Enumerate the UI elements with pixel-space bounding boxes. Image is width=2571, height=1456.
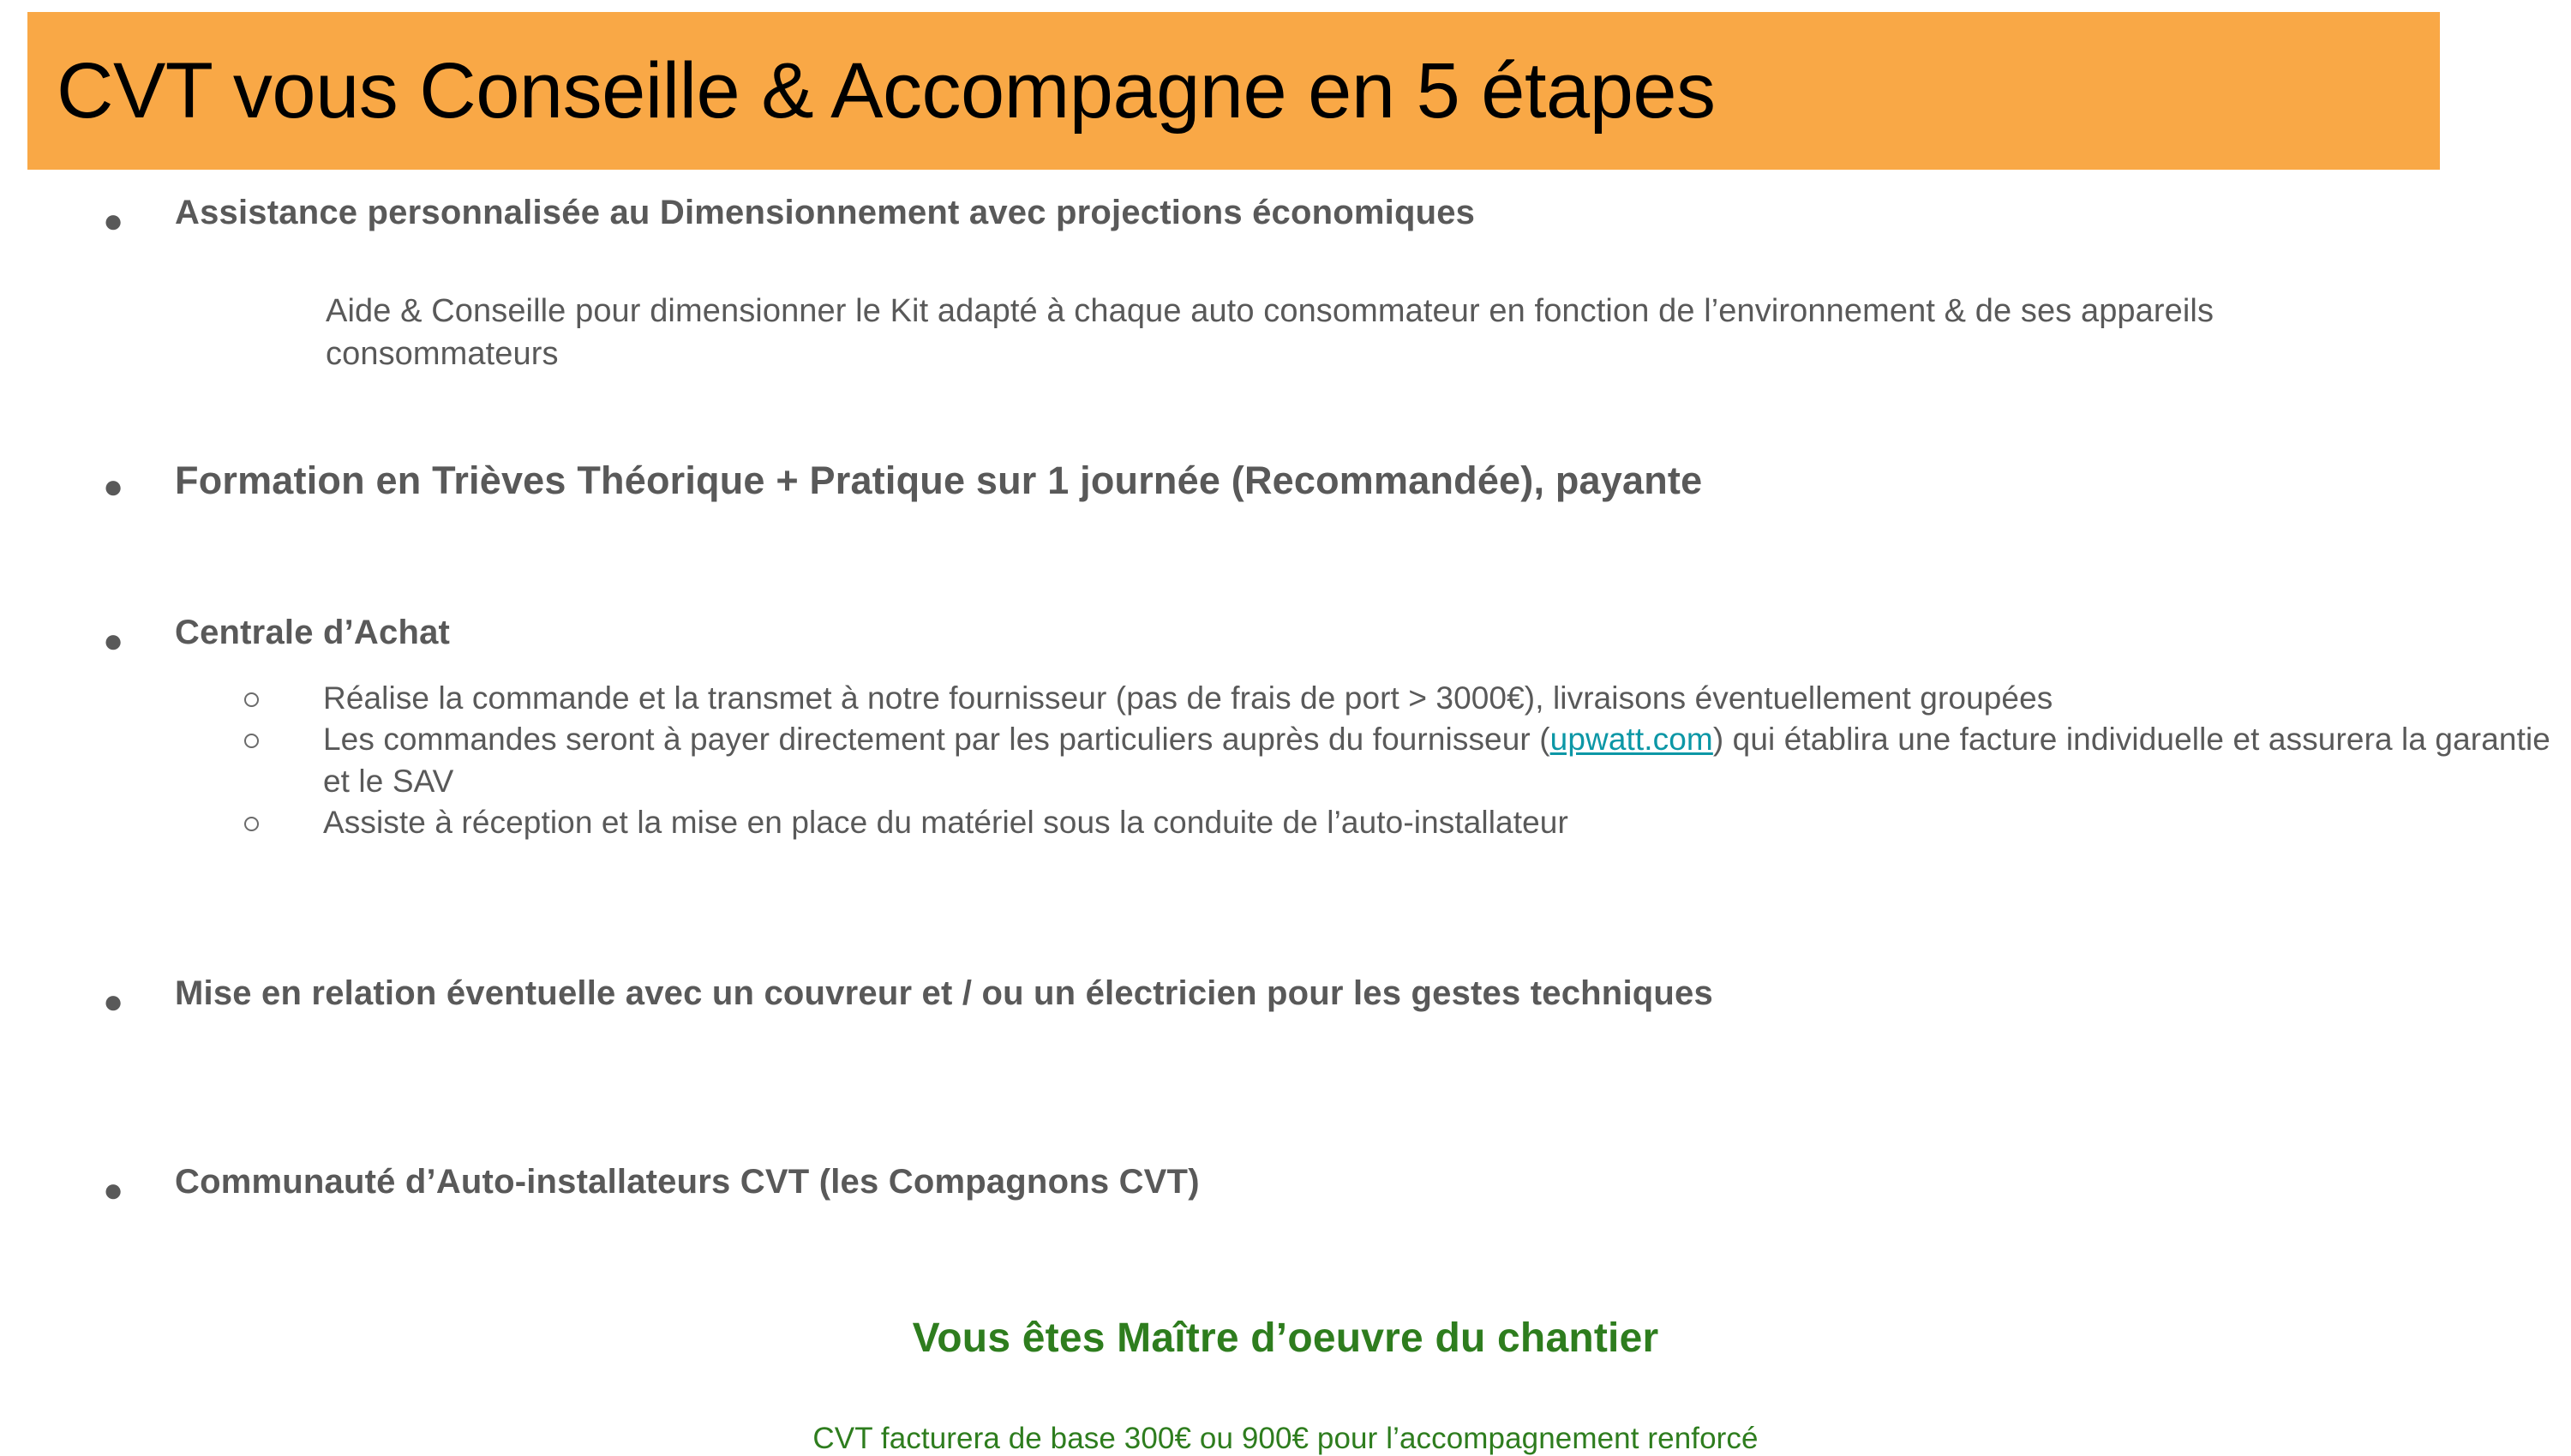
bullet-item-communaute: ● Communauté d’Auto-installateurs CVT (l… <box>0 1160 2571 1212</box>
page-title: CVT vous Conseille & Accompagne en 5 éta… <box>57 51 1716 130</box>
circle-bullet-icon <box>244 802 323 831</box>
bullet-label-formation: Formation en Trièves Théorique + Pratiqu… <box>175 457 1702 505</box>
footer-headline: Vous êtes Maître d’oeuvre du chantier <box>0 1315 2571 1362</box>
bullet-detail-assistance: Aide & Conseille pour dimensionner le Ki… <box>326 290 2451 375</box>
sub-bullet-commande: Réalise la commande et la transmet à not… <box>0 678 2571 719</box>
bullet-label-mise-en-relation: Mise en relation éventuelle avec un couv… <box>175 972 1713 1015</box>
disc-bullet-icon: ● <box>103 611 175 662</box>
bullet-label-assistance: Assistance personnalisée au Dimensionnem… <box>175 191 1475 234</box>
slide: CVT vous Conseille & Accompagne en 5 éta… <box>0 0 2571 1447</box>
bullet-item-assistance: ● Assistance personnalisée au Dimensionn… <box>0 191 2571 243</box>
disc-bullet-icon: ● <box>103 191 175 243</box>
bullet-label-centrale-achat: Centrale d’Achat <box>175 611 450 654</box>
bullet-item-centrale-achat: ● Centrale d’Achat <box>0 611 2571 662</box>
sub-bullet-label-paiement: Les commandes seront à payer directement… <box>323 719 2554 801</box>
sub-bullet-paiement-prefix: Les commandes seront à payer directement… <box>323 722 1550 757</box>
sub-bullet-label-commande: Réalise la commande et la transmet à not… <box>323 678 2053 719</box>
disc-bullet-icon: ● <box>103 972 175 1023</box>
title-banner: CVT vous Conseille & Accompagne en 5 éta… <box>27 12 2440 170</box>
disc-bullet-icon: ● <box>103 457 175 508</box>
bullet-label-communaute: Communauté d’Auto-installateurs CVT (les… <box>175 1160 1200 1203</box>
upwatt-link[interactable]: upwatt.com <box>1550 722 1713 757</box>
circle-bullet-icon <box>244 719 323 748</box>
circle-bullet-icon <box>244 678 323 707</box>
bullet-item-formation: ● Formation en Trièves Théorique + Prati… <box>0 457 2571 508</box>
footer-note: CVT facturera de base 300€ ou 900€ pour … <box>0 1422 2571 1456</box>
bullet-item-mise-en-relation: ● Mise en relation éventuelle avec un co… <box>0 972 2571 1023</box>
slide-body: ● Assistance personnalisée au Dimensionn… <box>0 176 2571 1456</box>
sub-bullet-label-reception: Assiste à réception et la mise en place … <box>323 802 1568 843</box>
disc-bullet-icon: ● <box>103 1160 175 1212</box>
sub-bullet-reception: Assiste à réception et la mise en place … <box>0 802 2571 843</box>
sub-bullet-paiement: Les commandes seront à payer directement… <box>0 719 2571 801</box>
